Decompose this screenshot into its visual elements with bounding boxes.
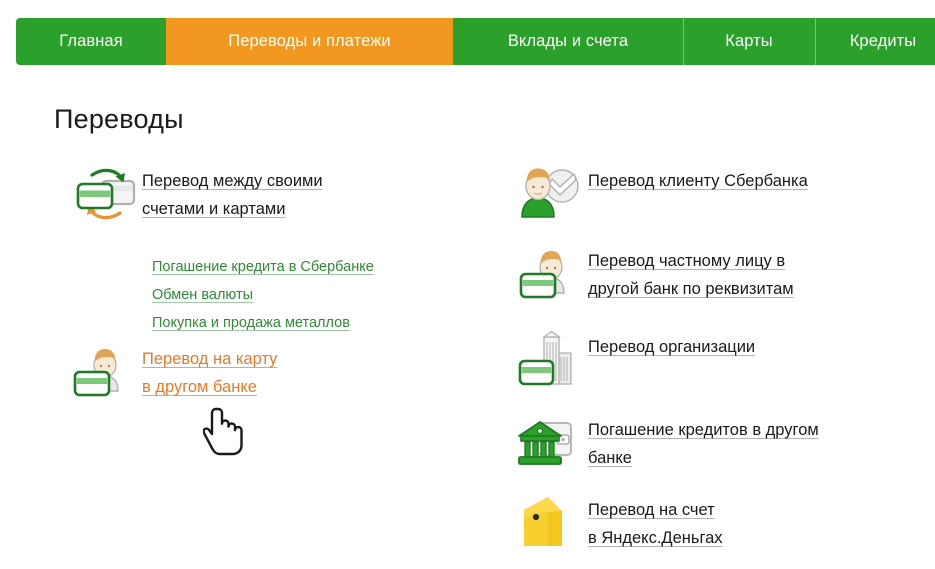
tab-label: Переводы и платежи: [228, 32, 390, 51]
page-root: ГлавнаяПереводы и платежиВклады и счетаК…: [0, 0, 935, 569]
link-line: в другом банке: [142, 373, 257, 401]
sublink-obmen-valyuty[interactable]: Обмен валюты: [152, 281, 253, 309]
link-label[interactable]: Перевод между своимисчетами и картами: [142, 165, 323, 223]
tab-karty[interactable]: Карты: [683, 18, 815, 65]
tab-label: Вклады и счета: [508, 32, 628, 51]
link-perevod-mezhdu-svoimi[interactable]: Перевод между своимисчетами и картами: [70, 165, 490, 223]
two-cards-exchange-icon: [70, 165, 142, 221]
link-label[interactable]: Погашение кредитов в другомбанке: [588, 414, 819, 472]
tab-separator: [683, 18, 684, 65]
tab-separator: [815, 18, 816, 65]
tab-kredity[interactable]: Кредиты: [815, 18, 935, 65]
link-pogashenie-kreditov-v-drugom-banke[interactable]: Погашение кредитов в другомбанке: [516, 414, 935, 472]
link-label[interactable]: Перевод частному лицу вдругой банк по ре…: [588, 245, 794, 303]
main-navigation: ГлавнаяПереводы и платежиВклады и счетаК…: [16, 18, 935, 65]
tab-vklady[interactable]: Вклады и счета: [453, 18, 683, 65]
sublink-pokupka-metallov[interactable]: Покупка и продажа металлов: [152, 309, 350, 337]
page-title: Переводы: [54, 104, 184, 135]
link-line: банке: [588, 444, 632, 472]
link-label[interactable]: Перевод на картув другом банке: [142, 343, 277, 401]
tab-label: Главная: [59, 32, 123, 51]
link-perevod-klientu-sberbanka[interactable]: Перевод клиенту Сбербанка: [516, 165, 935, 221]
link-perevod-chastnomu-litsu[interactable]: Перевод частному лицу вдругой банк по ре…: [516, 245, 935, 303]
link-line: Перевод организации: [588, 333, 755, 361]
link-line: счетами и картами: [142, 195, 285, 223]
link-line: Перевод частному лицу в: [588, 247, 785, 275]
yandex-money-wallet-icon: [516, 494, 588, 550]
link-label[interactable]: Перевод на счетв Яндекс.Деньгах: [588, 494, 723, 552]
tab-perevody[interactable]: Переводы и платежи: [166, 18, 453, 65]
person-with-card-icon: [70, 343, 142, 399]
tab-glavnaya[interactable]: Главная: [16, 18, 166, 65]
tab-label: Карты: [725, 32, 773, 51]
link-line: Перевод на счет: [588, 496, 715, 524]
link-line: другой банк по реквизитам: [588, 275, 794, 303]
link-label[interactable]: Перевод клиенту Сбербанка: [588, 165, 808, 195]
link-line: Перевод клиенту Сбербанка: [588, 167, 808, 195]
right-column: Перевод клиенту Сбербанка Перевод частно…: [516, 165, 935, 552]
sublink-list: Погашение кредита в СбербанкеОбмен валют…: [152, 253, 374, 337]
person-handshake-icon: [516, 165, 588, 221]
link-perevod-na-kartu-v-drugom-banke[interactable]: Перевод на картув другом банке: [70, 343, 490, 401]
hand-pointer-cursor: [203, 407, 247, 463]
link-line: Погашение кредитов в другом: [588, 416, 819, 444]
tab-label: Кредиты: [850, 32, 917, 51]
person-with-card-icon: [516, 245, 588, 301]
link-label[interactable]: Перевод организации: [588, 331, 755, 361]
link-perevod-organizatsii[interactable]: Перевод организации: [516, 331, 935, 387]
link-perevod-yandex-dengi[interactable]: Перевод на счетв Яндекс.Деньгах: [516, 494, 935, 552]
bank-wallet-icon: [516, 414, 588, 470]
link-line: Перевод между своими: [142, 167, 323, 195]
link-line: Перевод на карту: [142, 345, 277, 373]
sublink-pogashenie-kredita[interactable]: Погашение кредита в Сбербанке: [152, 253, 374, 281]
buildings-with-card-icon: [516, 331, 588, 387]
link-line: в Яндекс.Деньгах: [588, 524, 723, 552]
